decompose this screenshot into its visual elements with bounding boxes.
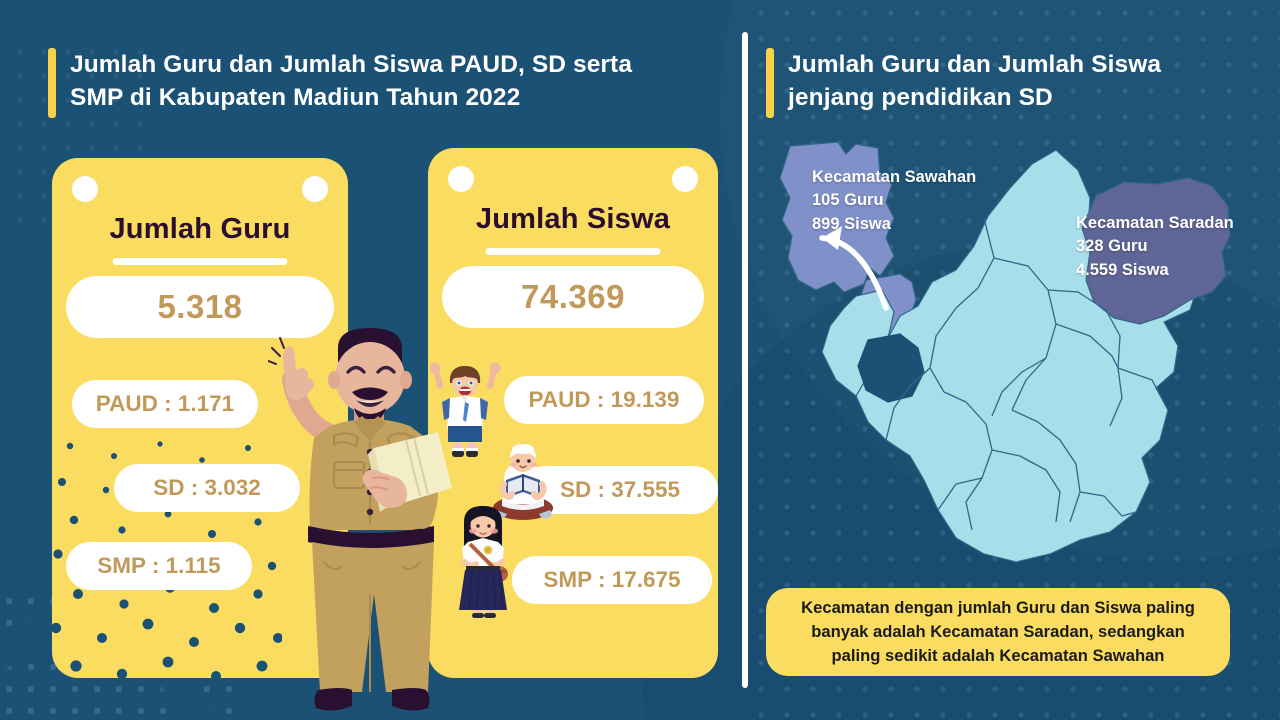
map-annotation-sawahan: Kecamatan Sawahan 105 Guru 899 Siswa bbox=[812, 166, 976, 236]
madiun-regency-map: Kecamatan Sawahan 105 Guru 899 Siswa Kec… bbox=[760, 140, 1265, 570]
guru-breakdown-smp: SMP : 1.115 bbox=[66, 542, 252, 590]
title-accent-bar bbox=[766, 48, 774, 118]
siswa-breakdown-smp: SMP : 17.675 bbox=[512, 556, 712, 604]
map-annotation-saradan: Kecamatan Saradan 328 Guru 4.559 Siswa bbox=[1076, 212, 1234, 282]
left-panel-title-text: Jumlah Guru dan Jumlah Siswa PAUD, SD se… bbox=[70, 48, 632, 114]
right-panel-title: Jumlah Guru dan Jumlah Siswa jenjang pen… bbox=[766, 48, 1226, 118]
map-summary-caption-text: Kecamatan dengan jumlah Guru dan Siswa p… bbox=[801, 596, 1195, 668]
card-corner-dot-right bbox=[672, 166, 698, 192]
card-heading-siswa: Jumlah Siswa bbox=[428, 203, 718, 236]
title-accent-bar bbox=[48, 48, 56, 118]
left-panel-title: Jumlah Guru dan Jumlah Siswa PAUD, SD se… bbox=[48, 48, 708, 118]
teacher-illustration bbox=[268, 312, 478, 720]
card-heading-underline bbox=[486, 248, 661, 255]
siswa-breakdown-paud: PAUD : 19.139 bbox=[504, 376, 704, 424]
card-corner-dot-left bbox=[448, 166, 474, 192]
infographic-root: Jumlah Guru dan Jumlah Siswa PAUD, SD se… bbox=[0, 0, 1280, 720]
right-panel-title-text: Jumlah Guru dan Jumlah Siswa jenjang pen… bbox=[788, 48, 1161, 114]
panel-divider bbox=[742, 32, 748, 688]
total-siswa-value: 74.369 bbox=[442, 266, 704, 328]
card-heading-underline bbox=[113, 258, 288, 265]
map-summary-caption: Kecamatan dengan jumlah Guru dan Siswa p… bbox=[766, 588, 1230, 676]
card-corner-dot-left bbox=[72, 176, 98, 202]
guru-breakdown-paud: PAUD : 1.171 bbox=[72, 380, 258, 428]
card-corner-dot-right bbox=[302, 176, 328, 202]
card-heading-guru: Jumlah Guru bbox=[52, 213, 348, 246]
